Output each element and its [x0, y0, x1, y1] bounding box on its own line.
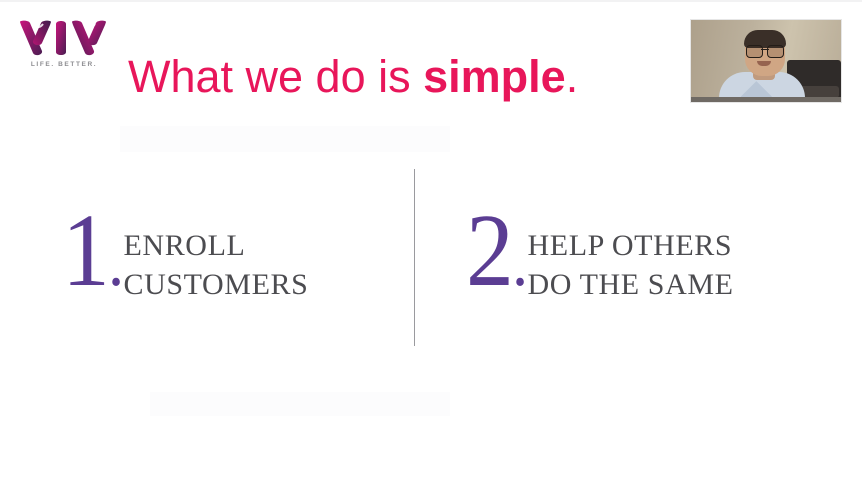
background-artifact: [150, 392, 450, 416]
step-1-numeral: 1.: [62, 204, 122, 310]
background-artifact: [120, 126, 450, 152]
step-2-number: 2: [466, 193, 512, 308]
step-2-line-2: DO THE SAME: [528, 265, 734, 304]
desk-edge: [691, 97, 841, 102]
viv-logo: LIFE. BETTER.: [18, 18, 114, 80]
slide-top-edge: [0, 0, 862, 2]
step-1-text: ENROLL CUSTOMERS: [124, 226, 309, 304]
step-1-period: .: [108, 224, 122, 301]
step-2-period: .: [512, 224, 526, 301]
glasses-right-lens: [767, 45, 784, 58]
step-2-line-1: HELP OTHERS: [528, 226, 734, 265]
presenter-video-overlay[interactable]: [690, 19, 842, 103]
logo-tagline: LIFE. BETTER.: [18, 61, 110, 68]
title-emphasis: simple: [423, 51, 566, 102]
viv-wordmark-icon: [18, 18, 110, 58]
glasses-left-lens: [746, 45, 763, 58]
step-1-line-1: ENROLL: [124, 226, 309, 265]
step-1-number: 1: [62, 193, 108, 308]
presentation-slide: LIFE. BETTER. What we do is simple. 1. E…: [0, 0, 862, 485]
page-title: What we do is simple.: [128, 48, 578, 106]
title-prefix: What we do is: [128, 51, 423, 102]
vertical-divider: [414, 169, 415, 346]
step-1-line-2: CUSTOMERS: [124, 265, 309, 304]
step-item-2: 2. HELP OTHERS DO THE SAME: [466, 204, 734, 310]
title-suffix: .: [566, 51, 579, 102]
step-item-1: 1. ENROLL CUSTOMERS: [62, 204, 308, 310]
step-2-numeral: 2.: [466, 204, 526, 310]
glasses-icon: [746, 45, 784, 56]
step-2-text: HELP OTHERS DO THE SAME: [528, 226, 734, 304]
